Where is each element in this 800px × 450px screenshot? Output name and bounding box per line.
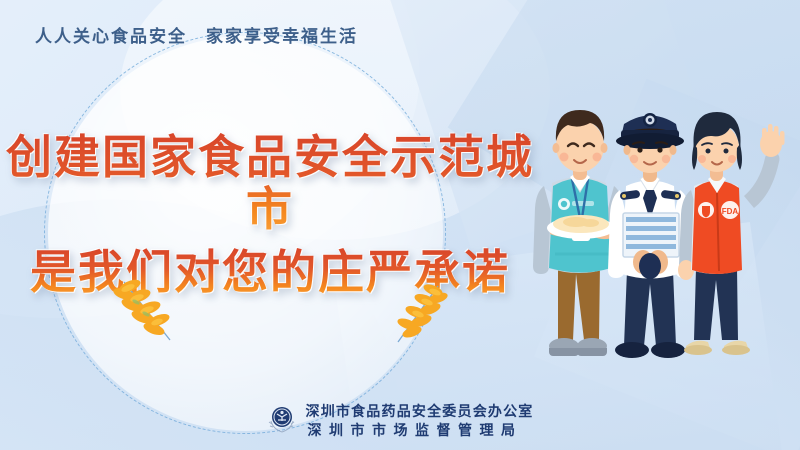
wheat-ear-icon [112, 272, 182, 349]
footer-agency-names: 深圳市食品药品安全委员会办公室 深圳市市场监督管理局 [306, 402, 534, 440]
tagline-text: 人人关心食品安全 家家享受幸福生活 [35, 22, 358, 47]
footer-line-2: 深圳市市场监督管理局 [306, 421, 534, 440]
headline-line-2: 是我们对您的庄严承诺 [0, 247, 540, 299]
figure-officer-navy-uniform [608, 113, 692, 358]
wheat-ear-icon [388, 276, 450, 351]
figure-volunteer-orange-vest: FDA [678, 112, 785, 355]
poster-canvas: 人人关心食品安全 家家享受幸福生活 创建国家食品安全示范城市 是我们对您的庄严承… [0, 0, 800, 450]
three-food-safety-officials-illustration: FDA [528, 78, 796, 368]
footer-line-1: 深圳市食品药品安全委员会办公室 [306, 402, 534, 421]
headline-line-1: 创建国家食品安全示范城市 [0, 132, 540, 235]
svg-text:FDA: FDA [722, 207, 739, 216]
footer-block: 深圳市食品药品安全委员会办公室 深圳市市场监督管理局 [0, 402, 800, 440]
government-emblem-icon [267, 404, 297, 439]
waving-hand [760, 124, 785, 157]
headline-block: 创建国家食品安全示范城市 是我们对您的庄严承诺 [0, 132, 540, 299]
